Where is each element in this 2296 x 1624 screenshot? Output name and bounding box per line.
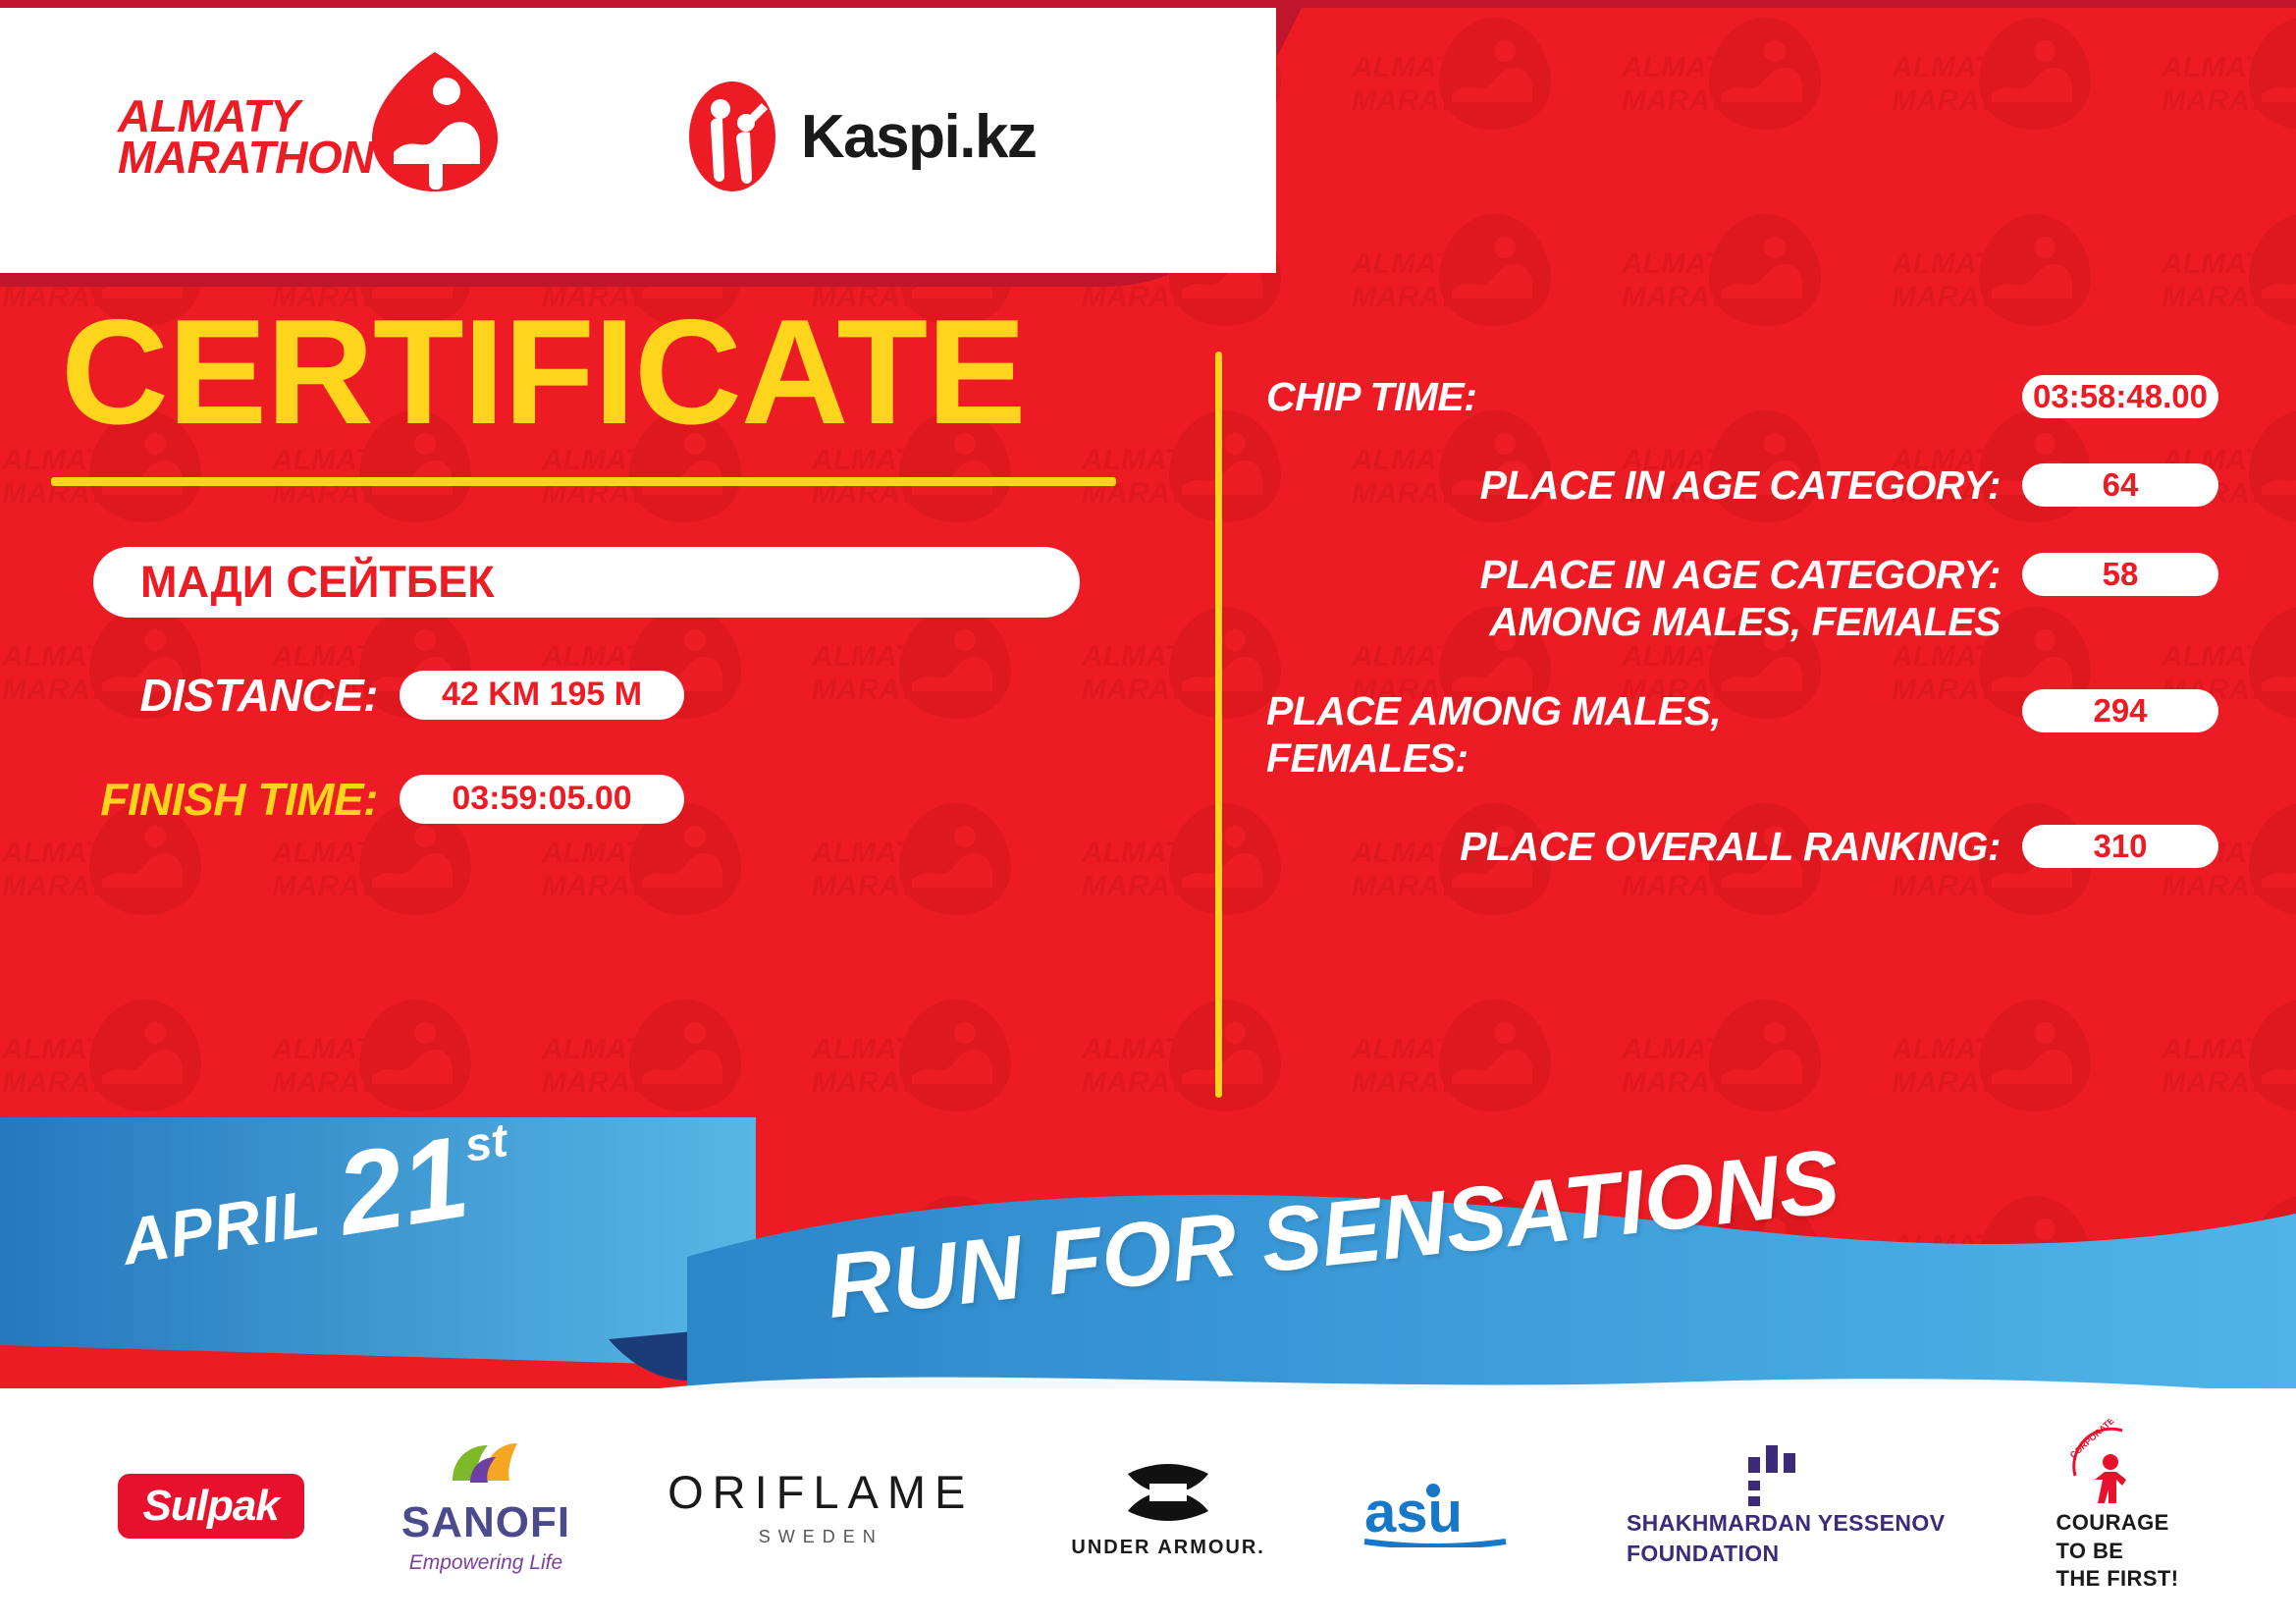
sponsor-oriflame[interactable]: ORIFLAME SWEDEN — [667, 1465, 974, 1547]
courage-line1: COURAGE — [2056, 1509, 2178, 1538]
sanofi-icon — [445, 1437, 527, 1494]
stat-row-place-age-category: PLACE IN AGE CATEGORY: 64 — [1266, 461, 2218, 509]
distance-value: 42 KM 195 M — [442, 676, 642, 714]
page-title: CERTIFICATE — [61, 295, 1207, 452]
stat-row-place-overall: PLACE OVERALL RANKING: 310 — [1266, 823, 2218, 870]
almaty-marathon-wordmark: ALMATY MARATHON — [118, 95, 374, 179]
place-among-gender-line1: PLACE AMONG MALES, — [1266, 688, 1721, 733]
distance-row: DISTANCE: 42 KM 195 M — [93, 669, 1207, 722]
runner-drop-icon — [366, 48, 504, 195]
stat-row-place-age-category-gender: PLACE IN AGE CATEGORY: AMONG MALES, FEMA… — [1266, 551, 2218, 646]
event-day: 21 — [331, 1127, 473, 1245]
place-age-category-label: PLACE IN AGE CATEGORY: — [1266, 461, 2001, 509]
place-among-gender-value-pill: 294 — [2022, 689, 2218, 732]
sanofi-tagline: Empowering Life — [409, 1551, 562, 1575]
chip-time-value-pill: 03:58:48.00 — [2022, 375, 2218, 418]
place-age-category-gender-value-pill: 58 — [2022, 553, 2218, 596]
place-age-category-gender-line1: PLACE IN AGE CATEGORY: — [1480, 552, 2001, 597]
almaty-marathon-logo[interactable]: ALMATY MARATHON — [118, 78, 504, 195]
place-age-category-gender-value: 58 — [2103, 556, 2139, 593]
oriflame-tagline: SWEDEN — [759, 1527, 883, 1547]
finish-time-row: FINISH TIME: 03:59:05.00 — [93, 773, 1207, 826]
left-column: CERTIFICATE МАДИ СЕЙТБЕК DISTANCE: 42 KM… — [0, 295, 1207, 826]
header-logos: ALMATY MARATHON — [0, 0, 1227, 273]
place-among-gender-label: PLACE AMONG MALES, FEMALES: — [1266, 687, 2001, 783]
under-armour-icon — [1095, 1454, 1242, 1531]
athlete-name-field: МАДИ СЕЙТБЕК — [93, 547, 1080, 618]
chip-time-label: CHIP TIME: — [1266, 373, 2001, 420]
place-age-category-value-pill: 64 — [2022, 463, 2218, 507]
yessenov-line1: SHAKHMARDAN YESSENOV — [1627, 1508, 1946, 1539]
place-age-category-gender-label: PLACE IN AGE CATEGORY: AMONG MALES, FEMA… — [1266, 551, 2001, 646]
distance-value-pill: 42 KM 195 M — [400, 671, 684, 720]
sponsor-sulpak[interactable]: Sulpak — [118, 1474, 304, 1539]
svg-text:asu: asu — [1364, 1481, 1463, 1544]
sanofi-wordmark: SANOFI — [401, 1498, 570, 1547]
event-day-suffix: st — [461, 1113, 511, 1173]
place-overall-label: PLACE OVERALL RANKING: — [1266, 823, 2001, 870]
courage-wordmark: COURAGE TO BE THE FIRST! — [2056, 1509, 2178, 1594]
asu-icon: asu — [1362, 1479, 1510, 1547]
chip-time-value: 03:58:48.00 — [2033, 378, 2208, 415]
athlete-name-value: МАДИ СЕЙТБЕК — [140, 557, 495, 608]
place-among-gender-line2: FEMALES: — [1266, 735, 1468, 781]
right-column: CHIP TIME: 03:58:48.00 PLACE IN AGE CATE… — [1266, 373, 2218, 912]
kaspi-people-icon — [685, 78, 779, 195]
sponsor-yessenov-foundation[interactable]: SHAKHMARDAN YESSENOV FOUNDATION — [1607, 1443, 1946, 1569]
finish-time-value: 03:59:05.00 — [452, 780, 631, 818]
finish-time-value-pill: 03:59:05.00 — [400, 775, 684, 824]
sulpak-wordmark: Sulpak — [118, 1474, 304, 1539]
sponsor-asu[interactable]: asu — [1362, 1479, 1510, 1534]
distance-label: DISTANCE: — [93, 669, 378, 722]
place-overall-value: 310 — [2093, 828, 2147, 865]
sponsor-under-armour[interactable]: UNDER ARMOUR. — [1071, 1454, 1264, 1559]
sponsor-courage-fund[interactable]: CORPORATE FUND COURAGE TO BE THE FIRST! — [2042, 1419, 2178, 1594]
kaspi-logo[interactable]: Kaspi.kz — [685, 78, 1037, 195]
finish-time-label: FINISH TIME: — [93, 773, 378, 826]
title-underline — [51, 477, 1116, 486]
kaspi-wordmark: Kaspi.kz — [801, 102, 1037, 172]
logo-line-2: MARATHON — [118, 136, 374, 178]
yessenov-bars-icon — [1746, 1443, 1805, 1508]
courage-line2: TO BE — [2056, 1538, 2178, 1566]
place-age-category-value: 64 — [2103, 466, 2139, 504]
under-armour-wordmark: UNDER ARMOUR. — [1071, 1537, 1264, 1559]
courage-person-icon: CORPORATE FUND — [2065, 1419, 2156, 1509]
stat-row-place-among-gender: PLACE AMONG MALES, FEMALES: 294 — [1266, 687, 2218, 783]
yessenov-line2: FOUNDATION — [1627, 1539, 1946, 1569]
place-age-category-gender-line2: AMONG MALES, FEMALES — [1489, 599, 2001, 644]
courage-line3: THE FIRST! — [2056, 1565, 2178, 1594]
logo-line-1: ALMATY — [118, 95, 374, 136]
column-divider — [1215, 352, 1222, 1098]
place-overall-value-pill: 310 — [2022, 825, 2218, 868]
svg-text:CORPORATE FUND: CORPORATE FUND — [2068, 1419, 2137, 1460]
yessenov-wordmark: SHAKHMARDAN YESSENOV FOUNDATION — [1627, 1508, 1946, 1569]
certificate-page: ALMATY MARATHON ALMATY MARATHON — [0, 0, 2296, 1624]
sponsor-strip: Sulpak SANOFI Empowering Life ORIFLAME S… — [0, 1388, 2296, 1624]
stat-row-chip-time: CHIP TIME: 03:58:48.00 — [1266, 373, 2218, 420]
oriflame-wordmark: ORIFLAME — [667, 1465, 974, 1519]
place-among-gender-value: 294 — [2093, 692, 2147, 730]
sponsor-sanofi[interactable]: SANOFI Empowering Life — [401, 1437, 570, 1575]
